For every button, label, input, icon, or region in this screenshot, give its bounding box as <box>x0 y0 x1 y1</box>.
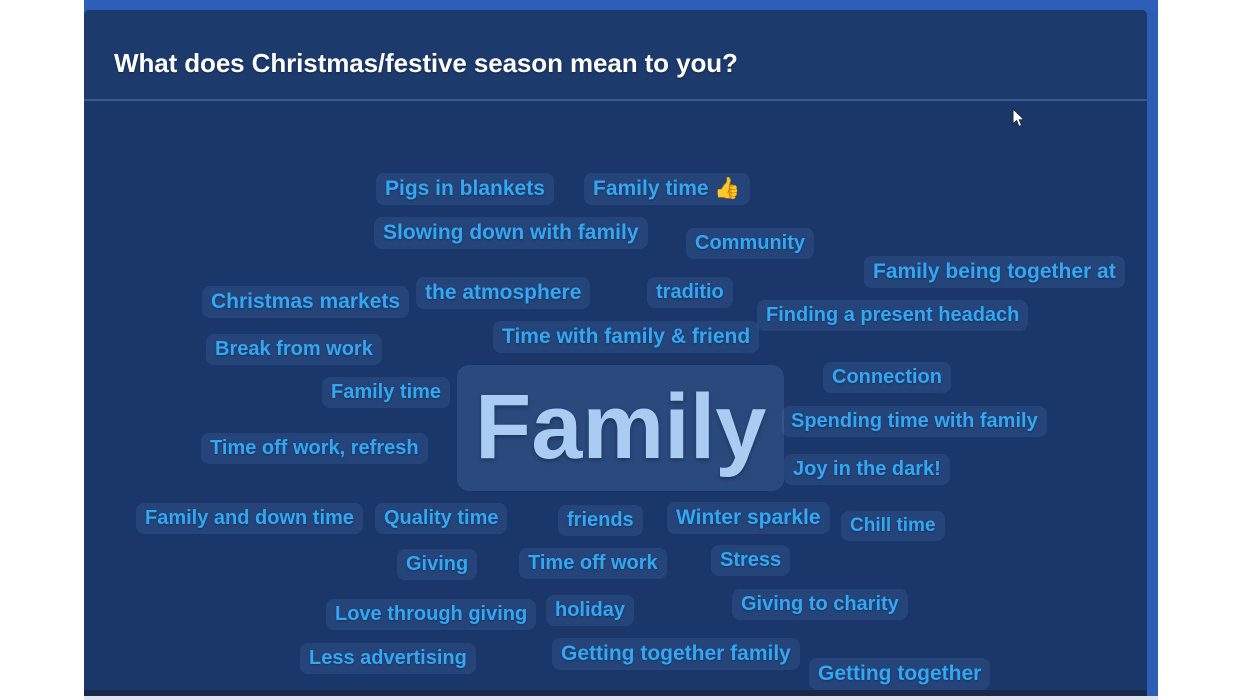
word-cloud-word-label: holiday <box>555 599 625 621</box>
word-cloud-word: Family and down time <box>136 503 363 534</box>
word-cloud-word: Family time 👍 <box>584 173 750 205</box>
word-cloud-word: Finding a present headach <box>757 300 1028 331</box>
word-cloud-word: holiday <box>546 595 634 626</box>
word-cloud-word: Time off work, refresh <box>201 433 428 464</box>
word-cloud-word-label: Stress <box>720 549 781 571</box>
word-cloud-word-label: Break from work <box>215 338 373 360</box>
word-cloud-word-label: Slowing down with family <box>383 221 639 244</box>
word-cloud-word-label: Getting together family <box>561 642 791 665</box>
word-cloud-word-label: Family <box>475 376 766 478</box>
word-cloud-word: Winter sparkle <box>667 502 830 534</box>
word-cloud-word: Time with family & friend <box>493 321 759 353</box>
word-cloud-word-label: Finding a present headach <box>766 304 1019 326</box>
word-cloud-word-label: Family time <box>331 381 441 403</box>
word-cloud-word: friends <box>558 505 643 536</box>
word-cloud-word-label: Christmas markets <box>211 290 400 313</box>
presentation-slide: What does Christmas/festive season mean … <box>84 10 1147 695</box>
screen: What does Christmas/festive season mean … <box>0 0 1244 700</box>
slide-shadow <box>84 696 1158 700</box>
word-cloud-word: Love through giving <box>326 599 536 630</box>
word-cloud-word-label: Connection <box>832 366 942 388</box>
word-cloud-word-label: friends <box>567 509 634 531</box>
word-cloud-word: Family time <box>322 377 450 408</box>
word-cloud-word-label: Pigs in blankets <box>385 177 545 200</box>
word-cloud-word: Chill time <box>841 511 945 541</box>
word-cloud-word: traditio <box>647 277 733 308</box>
page-title: What does Christmas/festive season mean … <box>114 48 738 79</box>
word-cloud-word-label: Chill time <box>850 515 936 536</box>
word-cloud-word: Less advertising <box>300 643 476 674</box>
word-cloud-word: Giving <box>397 549 477 580</box>
word-cloud-word-label: Time with family & friend <box>502 325 750 348</box>
word-cloud-word: Getting together <box>809 658 990 690</box>
word-cloud-word-label: Giving to charity <box>741 593 899 615</box>
slide-header: What does Christmas/festive season mean … <box>84 10 1147 99</box>
word-cloud-word-label: Giving <box>406 553 468 575</box>
word-cloud-word: Christmas markets <box>202 286 409 318</box>
word-cloud-word: Giving to charity <box>732 589 908 620</box>
word-cloud-word-label: Quality time <box>384 507 498 529</box>
word-cloud-word-label: Love through giving <box>335 603 527 625</box>
word-cloud: Pigs in blanketsFamily time 👍Slowing dow… <box>84 101 1147 695</box>
word-cloud-word-label: the atmosphere <box>425 281 581 304</box>
word-cloud-word: Slowing down with family <box>374 217 648 249</box>
word-cloud-word: Getting together family <box>552 638 800 670</box>
word-cloud-word: Family being together at <box>864 256 1125 288</box>
word-cloud-word-label: Less advertising <box>309 647 467 669</box>
word-cloud-word-label: traditio <box>656 281 724 303</box>
word-cloud-word: Spending time with family <box>782 406 1047 437</box>
word-cloud-word-label: Family and down time <box>145 507 354 529</box>
word-cloud-word-label: Time off work <box>528 552 658 574</box>
word-cloud-word-label: Spending time with family <box>791 410 1038 432</box>
word-cloud-word-label: Winter sparkle <box>676 506 821 529</box>
word-cloud-word: Break from work <box>206 334 382 365</box>
word-cloud-word: Time off work <box>519 548 667 579</box>
word-cloud-word-label: Family being together at <box>873 260 1116 283</box>
word-cloud-word-label: Getting together <box>818 662 981 685</box>
word-cloud-word: Quality time <box>375 503 507 534</box>
word-cloud-word: the atmosphere <box>416 277 590 309</box>
word-cloud-word-label: Family time <box>593 177 714 200</box>
word-cloud-top-word: Family <box>457 365 784 491</box>
word-cloud-word: Community <box>686 228 814 259</box>
word-cloud-word: Stress <box>711 545 790 576</box>
word-cloud-word-label: Time off work, refresh <box>210 437 419 459</box>
word-cloud-word: Joy in the dark! <box>784 454 950 485</box>
word-cloud-word: Connection <box>823 362 951 393</box>
word-cloud-word: Pigs in blankets <box>376 173 554 205</box>
word-cloud-word-label: Community <box>695 232 805 254</box>
thumbs-up-icon: 👍 <box>714 177 740 200</box>
word-cloud-word-label: Joy in the dark! <box>793 458 941 480</box>
